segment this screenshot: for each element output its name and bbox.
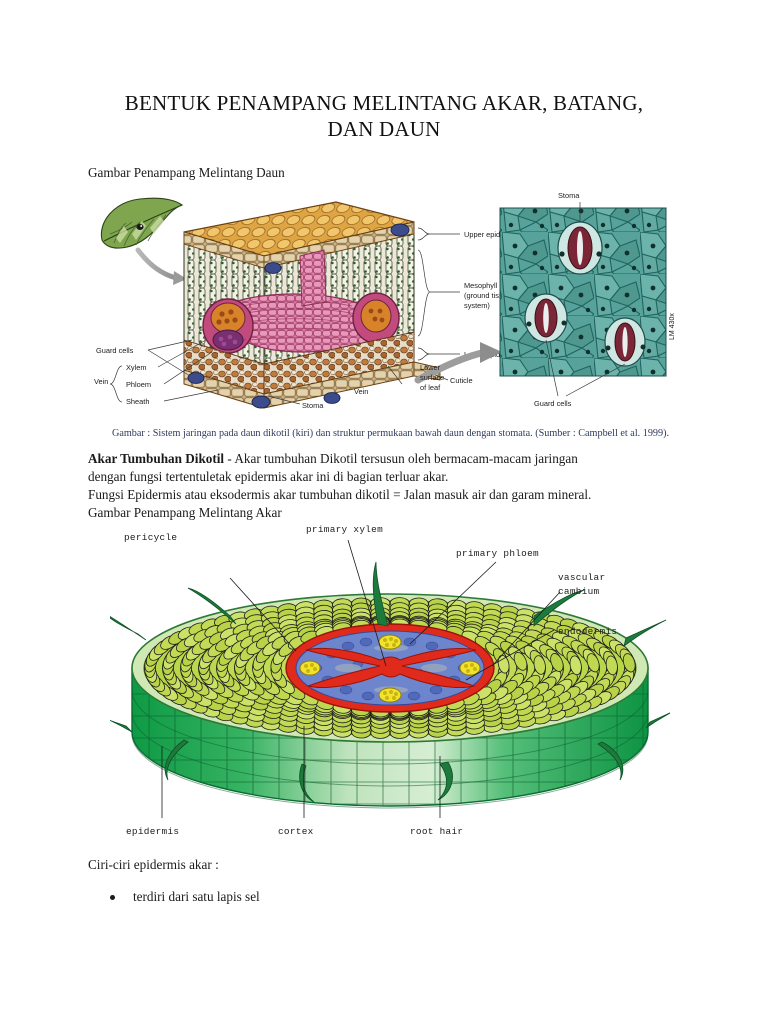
label-guard-cells: Guard cells <box>96 346 134 355</box>
label-micrograph-magnification: LM 430x <box>669 313 676 340</box>
label-epidermis: epidermis <box>126 826 179 837</box>
list-item: terdiri dari satu lapis sel <box>110 888 260 905</box>
leaf-icon <box>101 198 182 248</box>
page-title: BENTUK PENAMPANG MELINTANG AKAR, BATANG,… <box>84 90 684 142</box>
heading-leaf-section: Gambar Penampang Melintang Daun <box>88 164 285 182</box>
label-lower-surface-line-3: of leaf <box>420 383 441 392</box>
label-vein-right: Vein <box>354 387 368 396</box>
label-mesophyll-line-3: system) <box>464 301 490 310</box>
label-sheath: Sheath <box>126 397 149 406</box>
label-vascular-cambium-line-1: vascular <box>558 572 605 583</box>
label-primary-phloem: primary phloem <box>456 548 539 559</box>
body-line-3: Fungsi Epidermis atau eksodermis akar tu… <box>88 486 688 504</box>
label-pericycle: pericycle <box>124 532 177 543</box>
label-primary-xylem: primary xylem <box>306 524 383 535</box>
label-vascular-cambium-line-2: cambium <box>558 586 600 597</box>
label-root-hair: root hair <box>410 826 463 837</box>
label-lower-surface-line-1: Lower <box>420 363 441 372</box>
label-stoma-bottom: Stoma <box>302 401 324 410</box>
label-xylem: Xylem <box>126 363 147 372</box>
leaf-block-3d <box>184 202 440 408</box>
page-title-line-1: BENTUK PENAMPANG MELINTANG AKAR, BATANG, <box>84 90 684 116</box>
document-page: BENTUK PENAMPANG MELINTANG AKAR, BATANG,… <box>0 0 768 1024</box>
body-line-2: dengan fungsi tertentuletak epidermis ak… <box>88 468 678 486</box>
label-phloem: Phloem <box>126 380 151 389</box>
label-cuticle: Cuticle <box>450 376 473 385</box>
label-micrograph-guard-cells: Guard cells <box>534 399 572 408</box>
figure-root-cross-section: pericycle primary xylem primary phloem v… <box>110 518 670 848</box>
list-heading: Ciri-ciri epidermis akar : <box>88 856 219 874</box>
label-micrograph-stoma: Stoma <box>558 191 580 200</box>
body-paragraph-dikotil: Akar Tumbuhan Dikotil - Akar tumbuhan Di… <box>88 450 678 468</box>
body-term: Akar Tumbuhan Dikotil <box>88 451 224 466</box>
page-title-line-2: DAN DAUN <box>84 116 684 142</box>
label-lower-surface-line-2: surface <box>420 373 444 382</box>
label-cortex: cortex <box>278 826 314 837</box>
bullet-icon <box>110 895 115 900</box>
list-item-label: terdiri dari satu lapis sel <box>133 888 260 905</box>
label-vein-bracket: Vein <box>94 377 108 386</box>
label-endodermis: endodermis <box>558 626 617 637</box>
figure-leaf-cross-section: Upper epidermis Mesophyll (ground tissue… <box>88 190 688 420</box>
leaf-label-brackets <box>418 228 460 360</box>
figure-leaf-caption: Gambar : Sistem jaringan pada daun dikot… <box>112 427 672 440</box>
label-mesophyll-line-1: Mesophyll <box>464 281 498 290</box>
body-line-1: - Akar tumbuhan Dikotil tersusun oleh be… <box>224 451 578 466</box>
stomata-micrograph <box>500 202 666 396</box>
root-stele <box>286 624 494 712</box>
